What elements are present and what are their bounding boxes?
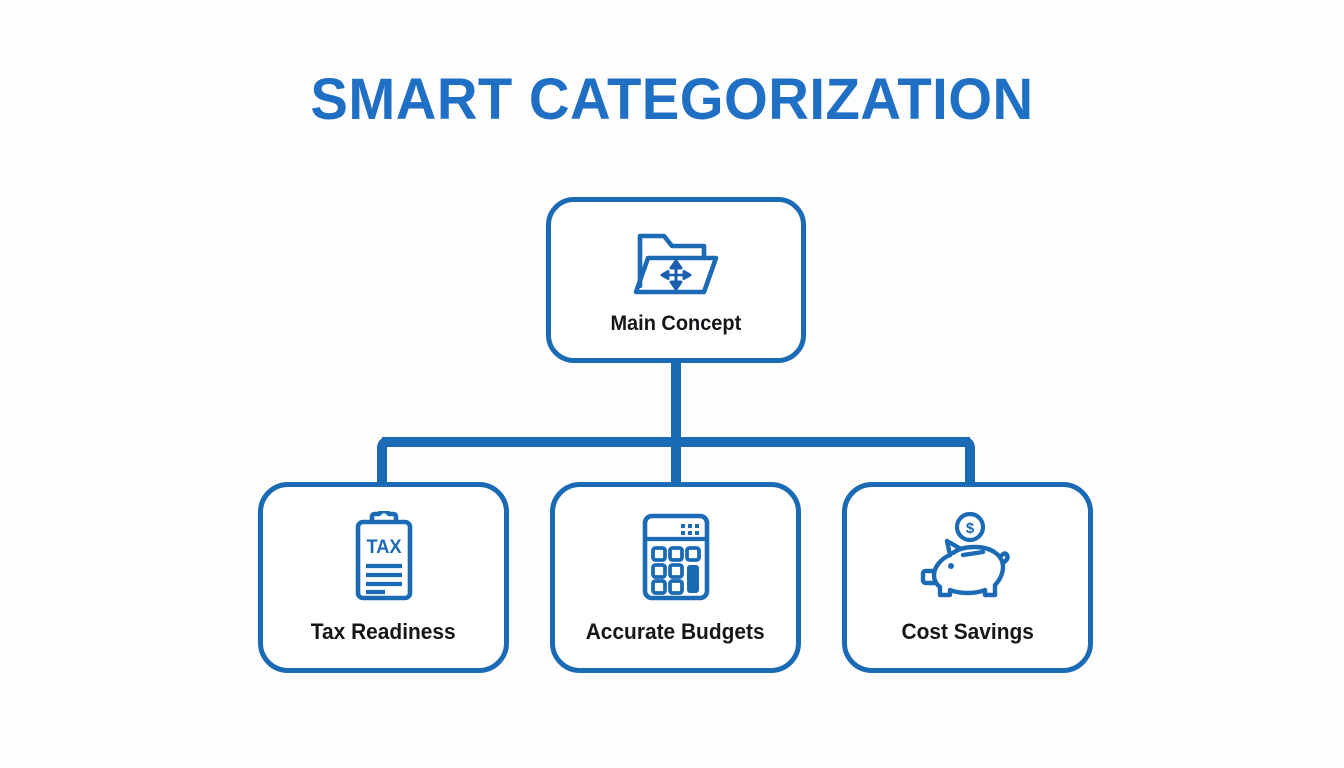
diagram-canvas: SMART CATEGORIZATION bbox=[0, 0, 1344, 768]
piggy-bank-coin-icon: $ bbox=[920, 511, 1016, 603]
node-label: Accurate Budgets bbox=[586, 619, 765, 645]
node-tax-readiness[interactable]: TAX Tax Readiness bbox=[258, 482, 509, 673]
node-accurate-budgets[interactable]: Accurate Budgets bbox=[550, 482, 801, 673]
node-label: Cost Savings bbox=[901, 619, 1033, 645]
coin-dollar-text: $ bbox=[965, 520, 974, 537]
tax-clipboard-icon: TAX bbox=[345, 511, 423, 603]
node-main-concept[interactable]: Main Concept bbox=[546, 197, 806, 363]
calculator-icon bbox=[635, 511, 717, 603]
connector-drop-left bbox=[382, 442, 388, 487]
page-title: SMART CATEGORIZATION bbox=[20, 66, 1324, 133]
open-folder-with-four-way-arrow-icon bbox=[628, 224, 724, 302]
node-cost-savings[interactable]: $ Cost Savings bbox=[842, 482, 1093, 673]
node-label: Main Concept bbox=[611, 312, 742, 336]
tax-icon-text: TAX bbox=[366, 536, 402, 557]
node-label: Tax Readiness bbox=[311, 619, 456, 645]
connector-drop-right bbox=[964, 442, 970, 487]
